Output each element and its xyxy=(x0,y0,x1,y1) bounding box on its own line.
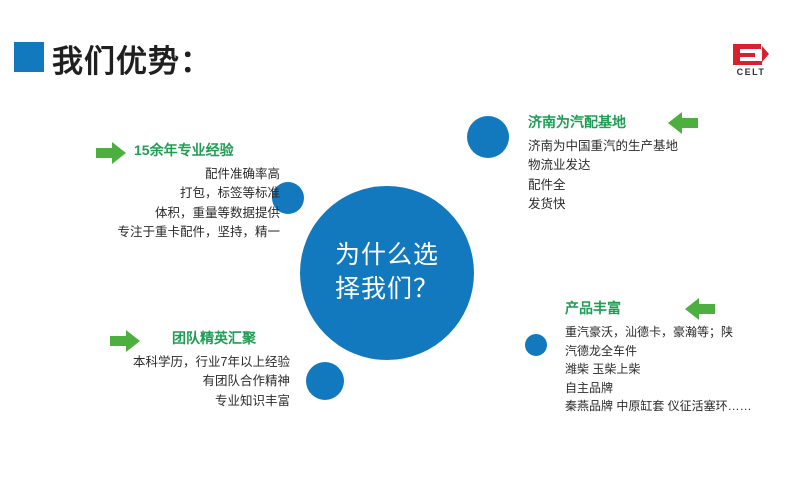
block-team-line: 专业知识丰富 xyxy=(0,392,290,411)
block-experience-line: 打包，标签等标准 xyxy=(0,184,280,203)
block-team-line: 有团队合作精神 xyxy=(0,372,290,391)
block-product-line: 重汽豪沃，汕德卡，豪瀚等；陕 xyxy=(565,323,800,342)
block-team: 团队精英汇聚 本科学历，行业7年以上经验 有团队合作精神 专业知识丰富 xyxy=(0,328,290,411)
logo-mark-icon xyxy=(731,42,771,66)
center-circle-label: 为什么选择我们？ xyxy=(327,239,447,307)
block-product-heading: 产品丰富 xyxy=(565,298,800,318)
block-experience-line: 体积，重量等数据提供 xyxy=(0,204,280,223)
logo-text: CELT xyxy=(737,67,766,77)
block-product: 产品丰富 重汽豪沃，汕德卡，豪瀚等；陕 汽德龙全车件 潍柴 玉柴上柴 自主品牌 … xyxy=(565,298,800,416)
block-jinan: 济南为汽配基地 济南为中国重汽的生产基地 物流业发达 配件全 发货快 xyxy=(528,112,798,215)
celt-logo: CELT xyxy=(720,36,782,82)
block-experience: 15余年专业经验 配件准确率高 打包，标签等标准 体积，重量等数据提供 专注于重… xyxy=(0,140,280,243)
block-jinan-heading: 济南为汽配基地 xyxy=(528,112,798,132)
block-jinan-line: 配件全 xyxy=(528,176,798,195)
block-jinan-line: 物流业发达 xyxy=(528,156,798,175)
node-dot-team xyxy=(306,362,344,400)
page-title: 我们优势： xyxy=(52,36,212,81)
block-product-line: 潍柴 玉柴上柴 xyxy=(565,360,800,379)
block-experience-line: 专注于重卡配件，坚持，精一 xyxy=(0,223,280,242)
node-dot-jinan xyxy=(467,116,509,158)
block-experience-heading: 15余年专业经验 xyxy=(134,140,280,160)
block-product-line: 秦燕品牌 中原缸套 仪征活塞环…… xyxy=(565,397,800,416)
block-team-heading: 团队精英汇聚 xyxy=(172,328,290,348)
node-dot-product xyxy=(525,334,547,356)
block-jinan-line: 济南为中国重汽的生产基地 xyxy=(528,137,798,156)
block-jinan-line: 发货快 xyxy=(528,195,798,214)
block-product-line: 汽德龙全车件 xyxy=(565,342,800,361)
title-bullet-square xyxy=(14,42,44,72)
block-product-line: 自主品牌 xyxy=(565,379,800,398)
block-team-line: 本科学历，行业7年以上经验 xyxy=(0,353,290,372)
block-experience-line: 配件准确率高 xyxy=(0,165,280,184)
slide-canvas: 我们优势： CELT 为什么选择我们？ 15余年专业经验 配件准确率高 打包，标… xyxy=(0,0,800,480)
center-circle: 为什么选择我们？ xyxy=(300,186,474,360)
